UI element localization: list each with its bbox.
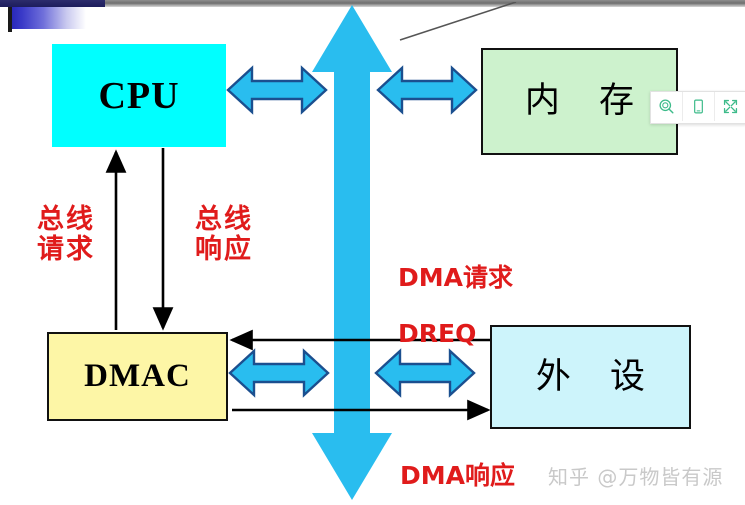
arrow-bus-memory <box>378 68 476 112</box>
node-peripheral: 外 设 <box>490 325 691 429</box>
fullscreen-button[interactable] <box>715 92 745 121</box>
image-floating-toolbar[interactable] <box>650 91 745 124</box>
label-bus-request: 总线 请求 <box>20 205 112 265</box>
fullscreen-icon <box>722 98 739 115</box>
node-cpu: CPU <box>53 45 225 146</box>
label-dma-request: DMA请求 DREQ <box>398 236 513 376</box>
node-dmac-label: DMAC <box>84 360 191 393</box>
mobile-button[interactable] <box>683 92 715 121</box>
node-cpu-label: CPU <box>98 77 179 115</box>
zoom-button[interactable] <box>651 92 683 121</box>
diagram-canvas: CPU 内 存 DMAC 外 设 总线 请求 总线 响应 DMA请求 DREQ … <box>0 0 745 505</box>
label-bus-response: 总线 响应 <box>178 205 270 265</box>
label-dma-ack: DMA响应 DACK <box>400 434 515 505</box>
watermark: 知乎 @万物皆有源 <box>548 461 723 490</box>
node-peripheral-label: 外 设 <box>522 360 659 395</box>
arrow-cpu-bus <box>228 68 326 112</box>
label-dma-request-line2: DREQ <box>398 320 513 348</box>
mobile-icon <box>690 98 707 115</box>
label-dma-request-line1: DMA请求 <box>398 264 513 292</box>
arrow-dmac-bus <box>230 351 328 395</box>
zoom-icon <box>658 98 675 115</box>
label-dma-ack-line1: DMA响应 <box>400 462 515 490</box>
node-memory-label: 内 存 <box>511 84 648 119</box>
node-memory: 内 存 <box>481 48 678 155</box>
node-dmac: DMAC <box>47 332 228 421</box>
system-bus-arrow <box>312 5 392 500</box>
